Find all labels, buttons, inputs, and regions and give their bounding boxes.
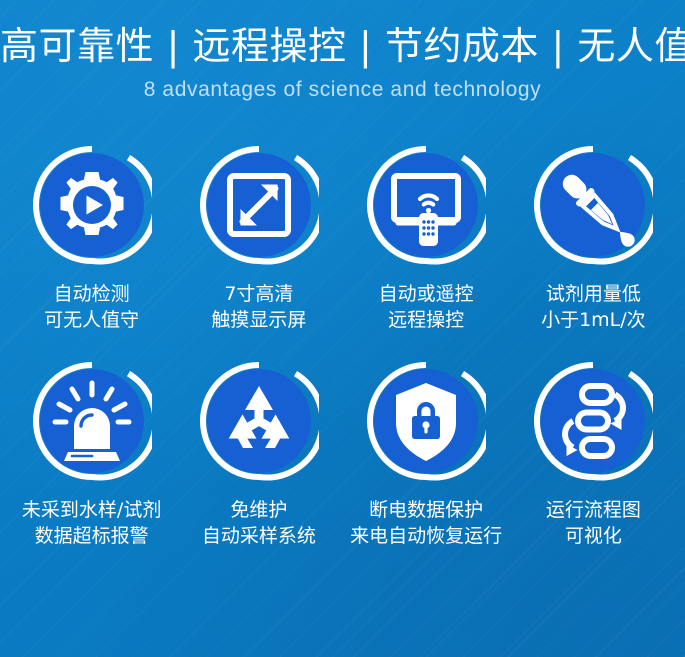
feature-badge — [366, 145, 486, 265]
feature-item[interactable]: 7寸高清 触摸显示屏 — [175, 145, 342, 333]
feature-caption: 试剂用量低 小于1mL/次 — [541, 281, 646, 333]
feature-row-1: 自动检测 可无人值守 — [0, 145, 685, 333]
feature-caption: 断电数据保护 来电自动恢复运行 — [350, 497, 502, 549]
feature-item[interactable]: 自动或遥控 远程操控 — [343, 145, 510, 333]
dropper-pipette-icon — [541, 153, 645, 257]
feature-caption: 自动或遥控 远程操控 — [379, 281, 474, 333]
subheadline: 8 advantages of science and technology — [0, 70, 685, 103]
feature-caption: 免维护 自动采样系统 — [202, 497, 316, 549]
feature-item[interactable]: 运行流程图 可视化 — [510, 361, 677, 549]
headline: 高可靠性 | 远程操控 | 节约成本 | 无人值守 — [0, 0, 685, 70]
feature-caption: 运行流程图 可视化 — [546, 497, 641, 549]
caption-line-1: 7寸高清 — [224, 283, 293, 305]
caption-line-1: 试剂用量低 — [546, 283, 641, 305]
feature-item[interactable]: 试剂用量低 小于1mL/次 — [510, 145, 677, 333]
feature-badge — [32, 145, 152, 265]
caption-line-1: 运行流程图 — [546, 499, 641, 521]
feature-badge — [199, 361, 319, 481]
recycle-icon — [207, 369, 311, 473]
feature-grid: 自动检测 可无人值守 — [0, 145, 685, 549]
caption-line-2: 自动采样系统 — [202, 523, 316, 549]
expand-arrows-screen-icon — [207, 153, 311, 257]
caption-line-2: 可视化 — [546, 523, 641, 549]
poster-canvas: 高可靠性 | 远程操控 | 节约成本 | 无人值守 8 advantages o… — [0, 0, 685, 657]
caption-line-2: 远程操控 — [379, 307, 474, 333]
poster-header: 高可靠性 | 远程操控 | 节约成本 | 无人值守 8 advantages o… — [0, 0, 685, 103]
feature-item[interactable]: 自动检测 可无人值守 — [8, 145, 175, 333]
feature-badge — [533, 361, 653, 481]
feature-badge — [533, 145, 653, 265]
caption-line-2: 触摸显示屏 — [211, 307, 306, 333]
gear-play-icon — [40, 153, 144, 257]
caption-line-1: 未采到水样/试剂 — [22, 499, 161, 521]
feature-badge — [366, 361, 486, 481]
caption-line-1: 自动检测 — [54, 283, 130, 305]
monitor-remote-wifi-icon — [374, 153, 478, 257]
caption-line-2: 来电自动恢复运行 — [350, 523, 502, 549]
caption-line-2: 小于1mL/次 — [541, 307, 646, 333]
caption-line-1: 免维护 — [230, 499, 287, 521]
feature-row-2: 未采到水样/试剂 数据超标报警 — [0, 361, 685, 549]
caption-line-1: 自动或遥控 — [379, 283, 474, 305]
caption-line-2: 数据超标报警 — [22, 523, 161, 549]
flowchart-loop-icon — [541, 369, 645, 473]
caption-line-1: 断电数据保护 — [369, 499, 483, 521]
caption-line-2: 可无人值守 — [44, 307, 139, 333]
feature-item[interactable]: 未采到水样/试剂 数据超标报警 — [8, 361, 175, 549]
alarm-siren-icon — [40, 369, 144, 473]
feature-item[interactable]: 断电数据保护 来电自动恢复运行 — [343, 361, 510, 549]
feature-caption: 未采到水样/试剂 数据超标报警 — [22, 497, 161, 549]
feature-badge — [199, 145, 319, 265]
feature-item[interactable]: 免维护 自动采样系统 — [175, 361, 342, 549]
feature-badge — [32, 361, 152, 481]
feature-caption: 自动检测 可无人值守 — [44, 281, 139, 333]
shield-lock-icon — [374, 369, 478, 473]
feature-caption: 7寸高清 触摸显示屏 — [211, 281, 306, 333]
